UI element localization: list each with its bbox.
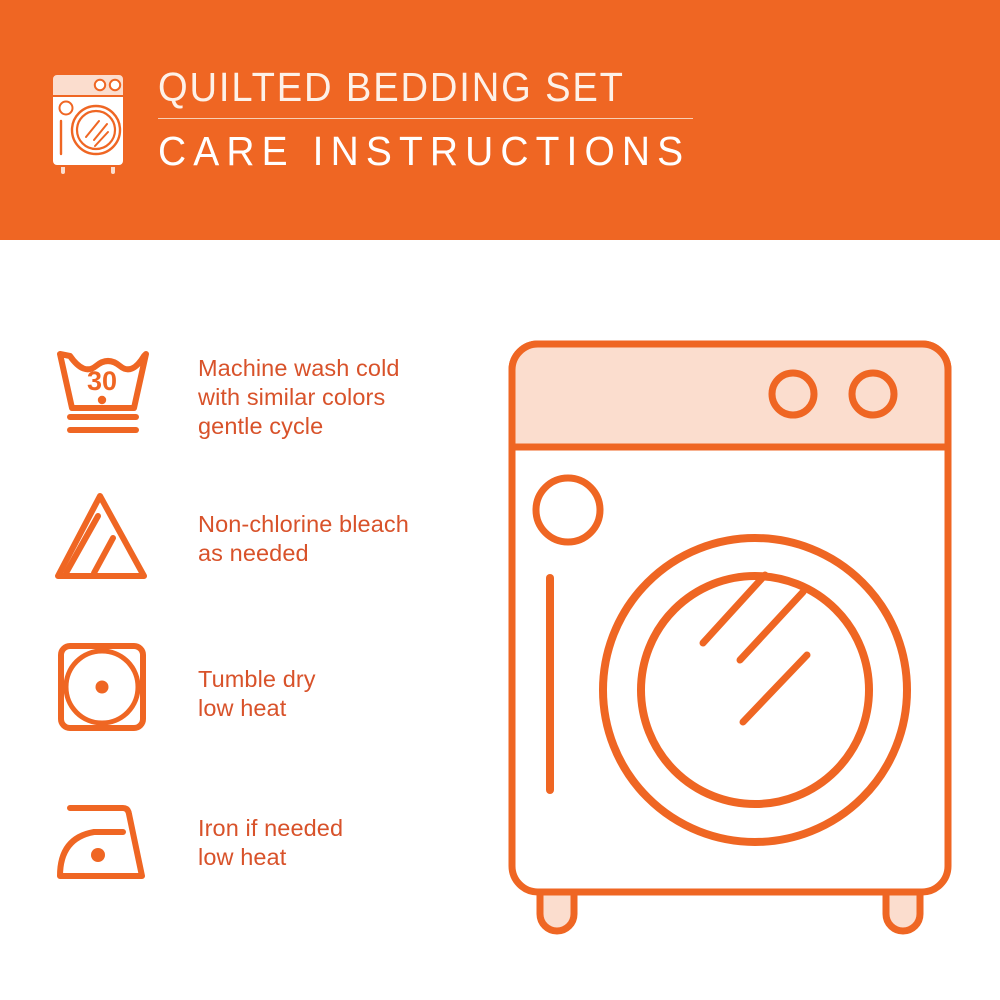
care-row-machine-wash: 30 Machine wash cold with similar colors… xyxy=(50,342,400,443)
non-chlorine-bleach-triangle-icon xyxy=(50,488,154,589)
knob-right-icon xyxy=(852,373,894,415)
wash-temperature-label: 30 xyxy=(87,366,117,396)
knob-left-icon xyxy=(772,373,814,415)
page-subtitle: CARE INSTRUCTIONS xyxy=(158,128,690,174)
care-instructions-list: 30 Machine wash cold with similar colors… xyxy=(0,240,490,1000)
header-content: QUILTED BEDDING SET CARE INSTRUCTIONS xyxy=(42,62,718,178)
leg-left xyxy=(540,892,574,931)
title-divider xyxy=(158,118,693,119)
header-title-block: QUILTED BEDDING SET CARE INSTRUCTIONS xyxy=(158,62,718,174)
iron-low-heat-icon xyxy=(50,792,154,893)
door-inner-ring xyxy=(641,576,869,804)
wash-basin-30-gentle-icon: 30 xyxy=(50,342,154,443)
tumble-dry-low-heat-icon xyxy=(50,640,154,741)
leg-right xyxy=(886,892,920,931)
care-row-label: Iron if needed low heat xyxy=(198,792,343,872)
care-row-label: Machine wash cold with similar colors ge… xyxy=(198,342,400,441)
care-row-bleach: Non-chlorine bleach as needed xyxy=(50,488,409,589)
washing-machine-illustration xyxy=(495,330,965,940)
indicator-light-icon xyxy=(536,478,600,542)
care-row-label: Non-chlorine bleach as needed xyxy=(198,488,409,568)
care-row-tumble-dry: Tumble dry low heat xyxy=(50,640,316,741)
washing-machine-icon xyxy=(42,66,138,178)
care-row-label: Tumble dry low heat xyxy=(198,640,316,723)
care-row-iron: Iron if needed low heat xyxy=(50,792,343,893)
header-banner: QUILTED BEDDING SET CARE INSTRUCTIONS xyxy=(0,0,1000,240)
page-title: QUILTED BEDDING SET xyxy=(158,64,679,110)
